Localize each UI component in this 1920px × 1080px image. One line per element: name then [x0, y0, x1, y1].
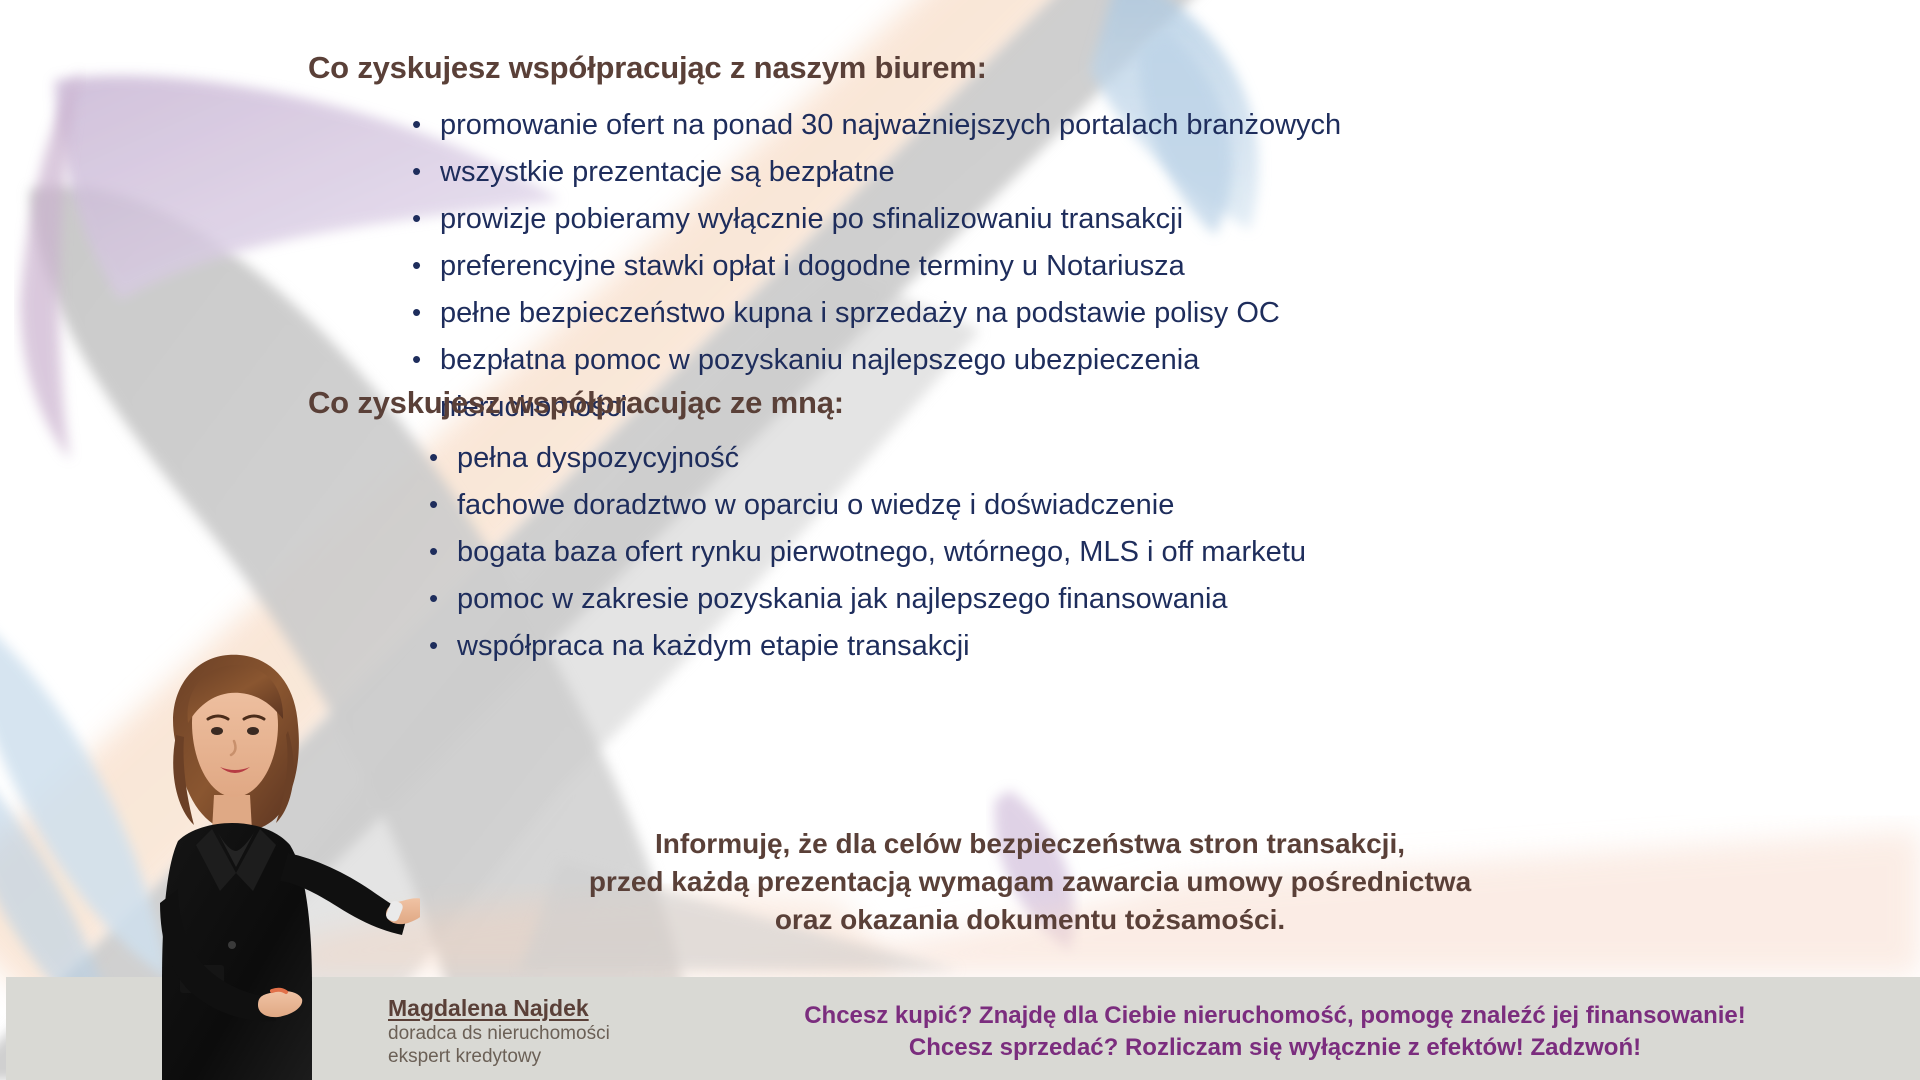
security-notice: Informuję, że dla celów bezpieczeństwa s… — [430, 825, 1630, 939]
list-item: fachowe doradztwo w oparciu o wiedzę i d… — [423, 482, 1306, 529]
slide-content: Co zyskujesz współpracując z naszym biur… — [0, 0, 1920, 1080]
section-me-list: pełna dyspozycyjność fachowe doradztwo w… — [423, 435, 1306, 670]
list-item: bezpłatna pomoc w pozyskaniu najlepszego… — [406, 337, 1341, 384]
section-me-heading: Co zyskujesz współpracując ze mną: — [308, 385, 1306, 421]
list-item: promowanie ofert na ponad 30 najważniejs… — [406, 102, 1341, 149]
list-item: współpraca na każdym etapie transakcji — [423, 623, 1306, 670]
section-office-heading: Co zyskujesz współpracując z naszym biur… — [308, 50, 1341, 86]
notice-line-2: przed każdą prezentacją wymagam zawarcia… — [430, 863, 1630, 901]
agent-name: Magdalena Najdek — [388, 994, 610, 1022]
section-office: Co zyskujesz współpracując z naszym biur… — [308, 50, 1341, 431]
list-item: pełna dyspozycyjność — [423, 435, 1306, 482]
list-item: wszystkie prezentacje są bezpłatne — [406, 149, 1341, 196]
list-item: pełne bezpieczeństwo kupna i sprzedaży n… — [406, 290, 1341, 337]
notice-line-1: Informuję, że dla celów bezpieczeństwa s… — [430, 825, 1630, 863]
agent-card: Magdalena Najdek doradca ds nieruchomośc… — [388, 994, 610, 1068]
list-item: prowizje pobieramy wyłącznie po sfinaliz… — [406, 196, 1341, 243]
cta-line-2: Chcesz sprzedać? Rozliczam się wyłącznie… — [640, 1032, 1910, 1064]
list-item: pomoc w zakresie pozyskania jak najlepsz… — [423, 576, 1306, 623]
agent-role-secondary: ekspert kredytowy — [388, 1045, 610, 1068]
section-me: Co zyskujesz współpracując ze mną: pełna… — [308, 385, 1306, 670]
agent-role-primary: doradca ds nieruchomości — [388, 1022, 610, 1045]
list-item: preferencyjne stawki opłat i dogodne ter… — [406, 243, 1341, 290]
cta-line-1: Chcesz kupić? Znajdę dla Ciebie nierucho… — [640, 1000, 1910, 1032]
call-to-action: Chcesz kupić? Znajdę dla Ciebie nierucho… — [640, 1000, 1910, 1064]
notice-line-3: oraz okazania dokumentu tożsamości. — [430, 901, 1630, 939]
list-item: bogata baza ofert rynku pierwotnego, wtó… — [423, 529, 1306, 576]
section-office-list: promowanie ofert na ponad 30 najważniejs… — [406, 102, 1341, 431]
